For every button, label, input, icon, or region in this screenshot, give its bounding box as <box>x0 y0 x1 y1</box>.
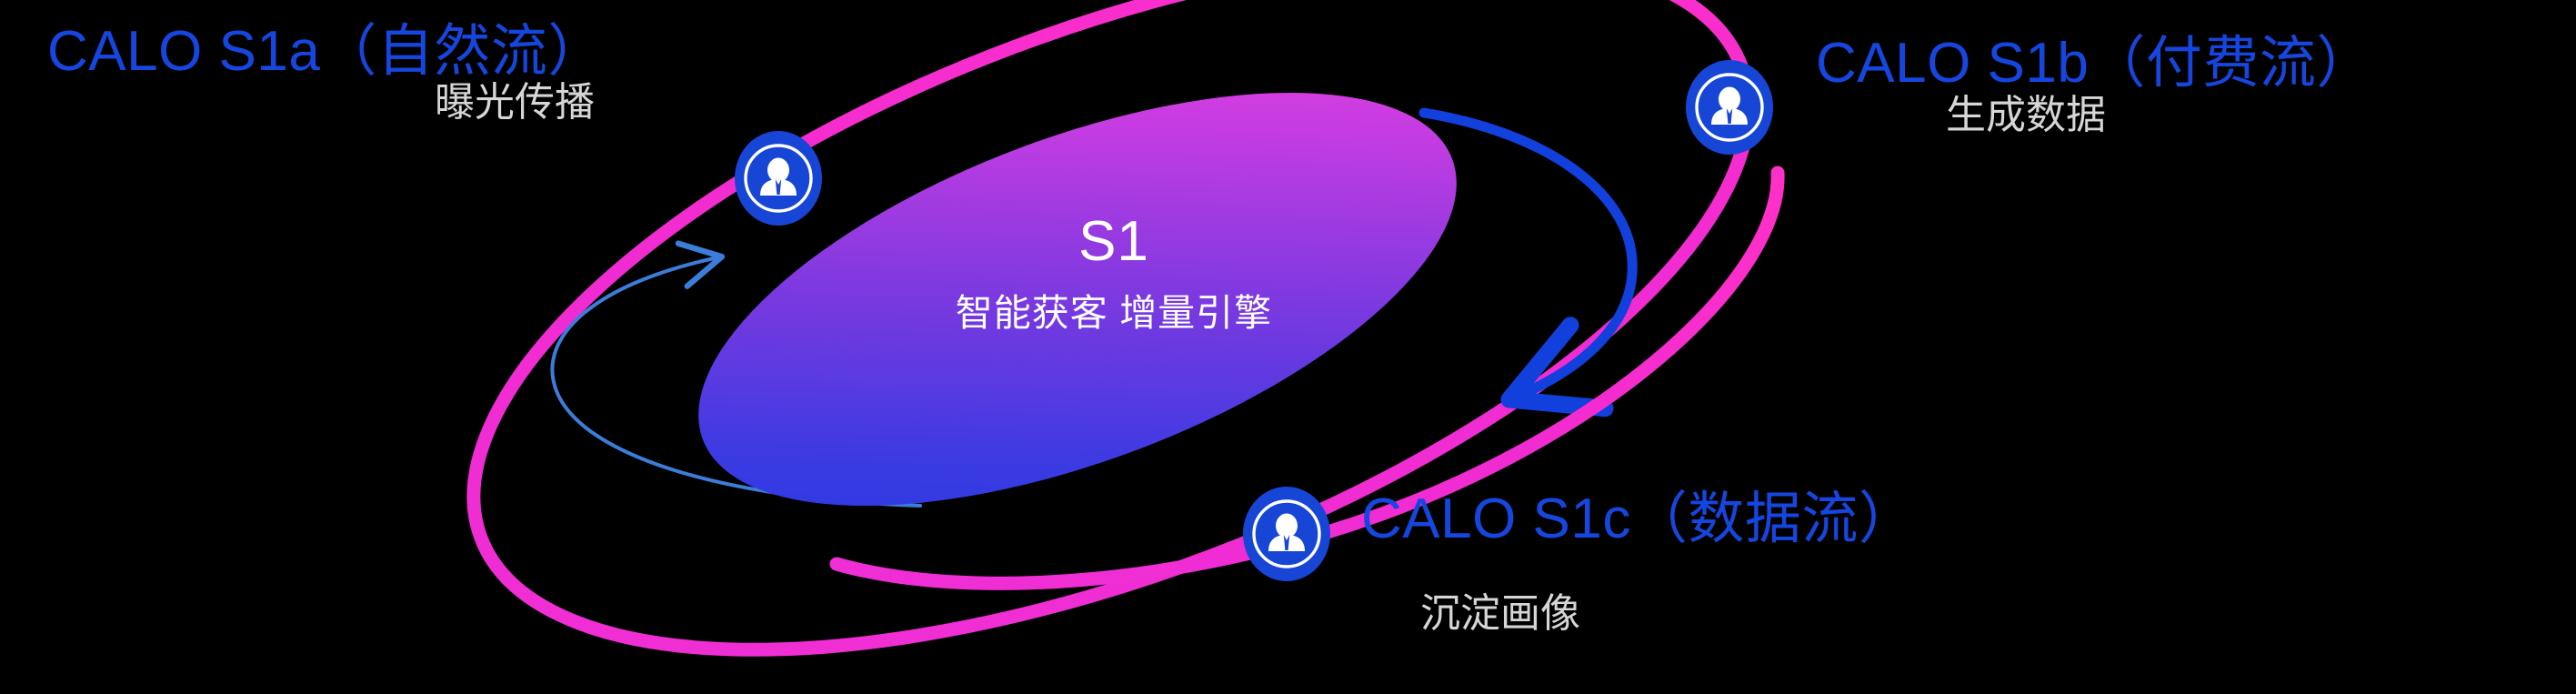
avatar-badge-s1b[interactable] <box>1686 60 1773 155</box>
node-label-s1a-subtitle: 曝光传播 <box>435 80 595 125</box>
node-label-s1b-title[interactable]: CALO S1b（付费流） <box>1816 32 2373 95</box>
node-label-s1c-title[interactable]: CALO S1c（数据流） <box>1361 488 1915 550</box>
node-label-s1c-subtitle: 沉淀画像 <box>1420 591 1580 636</box>
node-label-s1b-subtitle: 生成数据 <box>1946 93 2106 137</box>
diagram-canvas: S1 智能获客 增量引擎 CALO S1a（自然流） 曝光传播 CALO S1b… <box>0 0 2576 694</box>
avatar-badge-s1c[interactable] <box>1243 487 1330 581</box>
diagram-vector-layer <box>0 0 2576 694</box>
node-label-s1a-title[interactable]: CALO S1a（自然流） <box>47 20 605 83</box>
core-subtitle: 智能获客 增量引擎 <box>0 282 2228 337</box>
core-title: S1 <box>0 209 2228 274</box>
